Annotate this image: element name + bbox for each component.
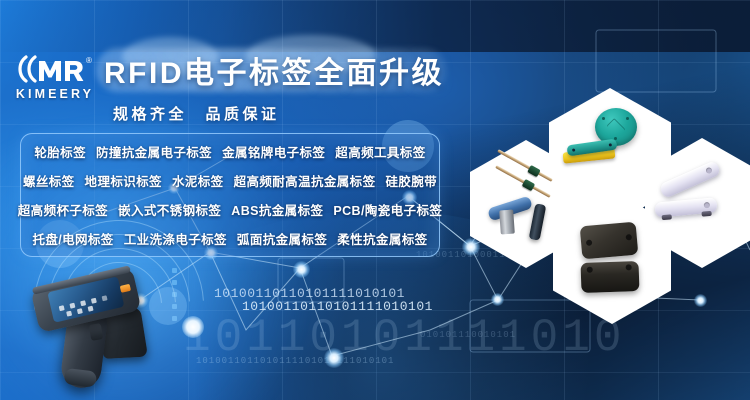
tag-item: 超高频工具标签 xyxy=(335,142,425,161)
tag-item: 超高频耐高温抗金属标签 xyxy=(234,171,376,190)
product-cylinder-tag xyxy=(529,203,547,240)
handheld-rfid-reader xyxy=(28,272,156,394)
tag-item: 螺丝标签 xyxy=(23,171,75,190)
tag-row-3: 超高频杯子标签 嵌入式不锈钢标签 ABS抗金属标签 PCB/陶瓷电子标签 xyxy=(21,195,439,224)
product-white-tag-lower xyxy=(654,197,717,217)
network-node xyxy=(694,294,707,307)
brand-wordmark: KIMEERY xyxy=(12,87,98,101)
rfid-product-banner: 1010011010001101 010110101 1010011011010… xyxy=(0,0,750,400)
tag-item: ABS抗金属标签 xyxy=(231,200,323,219)
tag-item: 水泥标签 xyxy=(172,171,224,190)
tag-item: 地理标识标签 xyxy=(85,171,162,190)
kimeery-logo-mark-icon: ® xyxy=(12,52,98,86)
tag-item: 防撞抗金属电子标签 xyxy=(96,142,212,161)
brand-logo: ® KIMEERY xyxy=(12,52,98,101)
tag-row-1: 轮胎标签 防撞抗金属电子标签 金属铭牌电子标签 超高频工具标签 xyxy=(21,137,439,166)
network-node xyxy=(293,261,310,278)
product-white-tag-upper xyxy=(659,160,722,199)
tag-item: 嵌入式不锈钢标签 xyxy=(118,200,221,219)
tag-item: 超高频杯子标签 xyxy=(18,200,108,219)
tag-item: PCB/陶瓷电子标签 xyxy=(333,200,442,219)
product-black-tag-bottom xyxy=(580,261,639,293)
page-title: RFID电子标签全面升级 xyxy=(104,50,444,90)
tag-item: 弧面抗金属标签 xyxy=(237,229,327,248)
tag-item: 柔性抗金属标签 xyxy=(337,229,427,248)
network-node xyxy=(491,293,504,306)
reader-trigger xyxy=(89,323,104,341)
tag-row-2: 螺丝标签 地理标识标签 水泥标签 超高频耐高温抗金属标签 硅胶腕带 xyxy=(21,166,439,195)
product-white-uhf-tags xyxy=(645,138,750,268)
tag-item: 轮胎标签 xyxy=(34,142,86,161)
product-black-tag-top xyxy=(580,222,639,260)
tag-item: 硅胶腕带 xyxy=(385,171,437,190)
page-subtitle: 规格齐全 品质保证 xyxy=(113,103,280,124)
registered-trademark-icon: ® xyxy=(86,56,92,65)
network-node xyxy=(324,348,344,368)
reader-status-light xyxy=(120,284,131,293)
product-screw-body xyxy=(499,210,515,235)
tag-item: 金属铭牌电子标签 xyxy=(222,142,325,161)
